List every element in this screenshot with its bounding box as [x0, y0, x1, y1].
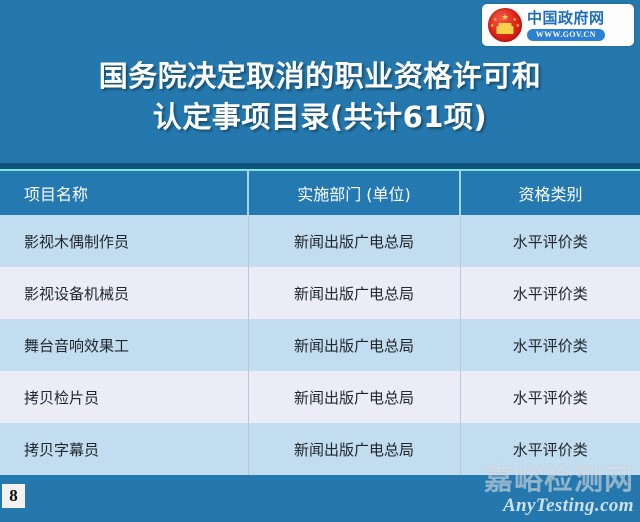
table-body: 影视木偶制作员 新闻出版广电总局 水平评价类 影视设备机械员 新闻出版广电总局 …	[0, 215, 640, 475]
cell-department: 新闻出版广电总局	[248, 267, 460, 319]
page-title-line-1: 国务院决定取消的职业资格许可和	[0, 56, 640, 97]
cell-name: 拷贝字幕员	[0, 423, 248, 475]
emblem-star-large: ★	[501, 13, 509, 22]
column-header-department: 实施部门 (单位)	[248, 171, 460, 215]
table-row: 拷贝检片员 新闻出版广电总局 水平评价类	[0, 371, 640, 423]
cell-name: 拷贝检片员	[0, 371, 248, 423]
page-title: 国务院决定取消的职业资格许可和 认定事项目录(共计61项)	[0, 56, 640, 138]
table-header-row: 项目名称 实施部门 (单位) 资格类别	[0, 171, 640, 215]
table-row: 影视木偶制作员 新闻出版广电总局 水平评价类	[0, 215, 640, 267]
cell-department: 新闻出版广电总局	[248, 215, 460, 267]
title-band: ★ ★ ★ ★ ★ 中国政府网 WWW.GOV.CN 国务院决定取消的职业资格许…	[0, 0, 640, 163]
national-emblem-icon: ★ ★ ★ ★ ★	[488, 8, 522, 42]
page-title-line-2: 认定事项目录(共计61项)	[0, 97, 640, 138]
cell-department: 新闻出版广电总局	[248, 371, 460, 423]
page-number-badge: 8	[2, 484, 25, 508]
emblem-star-small: ★	[490, 24, 494, 29]
table-header: 项目名称 实施部门 (单位) 资格类别	[0, 171, 640, 215]
qualifications-table: 项目名称 实施部门 (单位) 资格类别 影视木偶制作员 新闻出版广电总局 水平评…	[0, 171, 640, 475]
cell-category: 水平评价类	[460, 319, 640, 371]
gov-logo-text: 中国政府网 WWW.GOV.CN	[527, 10, 605, 41]
cell-name: 舞台音响效果工	[0, 319, 248, 371]
cell-category: 水平评价类	[460, 267, 640, 319]
emblem-star-small: ★	[516, 24, 520, 29]
cell-category: 水平评价类	[460, 371, 640, 423]
cell-category: 水平评价类	[460, 423, 640, 475]
gov-logo[interactable]: ★ ★ ★ ★ ★ 中国政府网 WWW.GOV.CN	[482, 4, 634, 46]
cell-category: 水平评价类	[460, 215, 640, 267]
gov-logo-url[interactable]: WWW.GOV.CN	[527, 29, 605, 41]
emblem-gate-icon	[497, 26, 514, 34]
table-row: 拷贝字幕员 新闻出版广电总局 水平评价类	[0, 423, 640, 475]
column-header-name: 项目名称	[0, 171, 248, 215]
slide-canvas: ★ ★ ★ ★ ★ 中国政府网 WWW.GOV.CN 国务院决定取消的职业资格许…	[0, 0, 640, 522]
cell-department: 新闻出版广电总局	[248, 319, 460, 371]
gov-logo-name: 中国政府网	[527, 10, 605, 27]
table-row: 舞台音响效果工 新闻出版广电总局 水平评价类	[0, 319, 640, 371]
cell-department: 新闻出版广电总局	[248, 423, 460, 475]
column-header-category: 资格类别	[460, 171, 640, 215]
footer-bar: 8	[0, 479, 640, 522]
cell-name: 影视木偶制作员	[0, 215, 248, 267]
cell-name: 影视设备机械员	[0, 267, 248, 319]
table-row: 影视设备机械员 新闻出版广电总局 水平评价类	[0, 267, 640, 319]
